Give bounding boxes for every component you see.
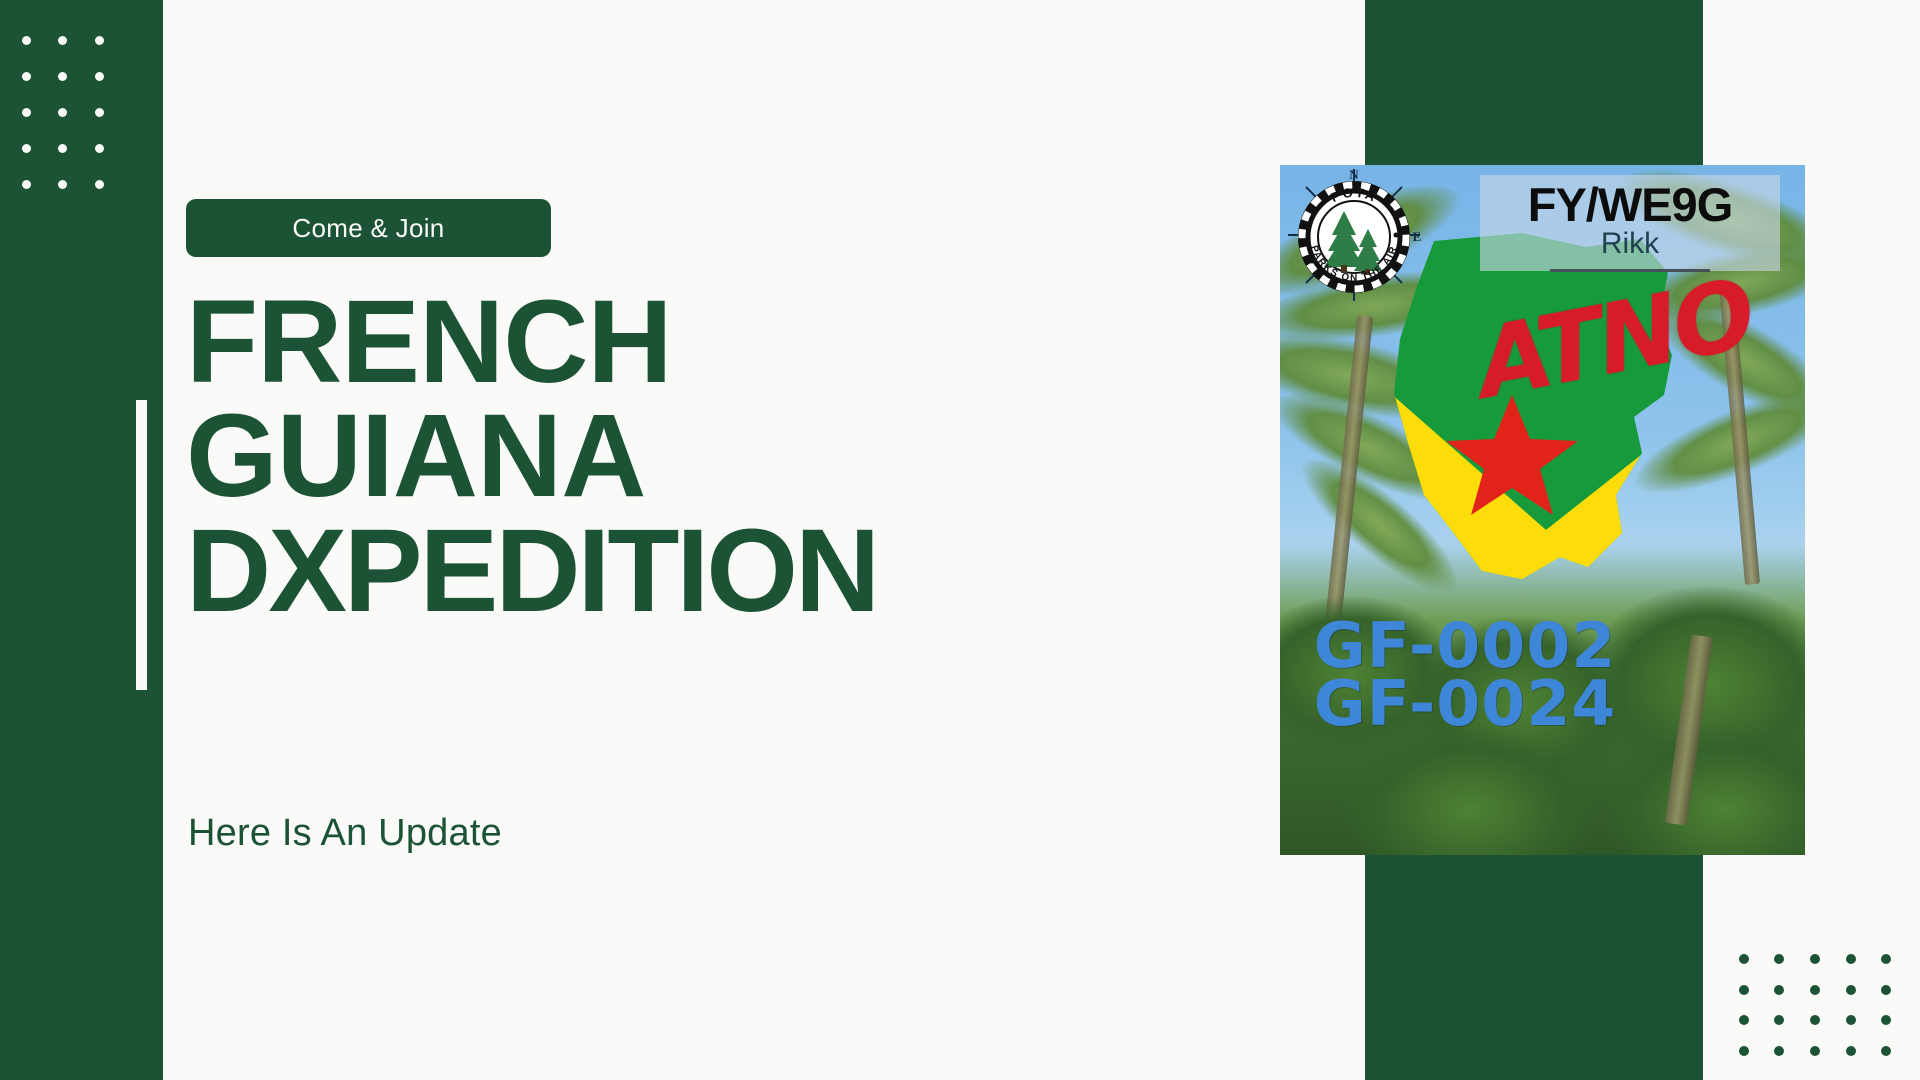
park-reference: GF-0002 bbox=[1314, 617, 1742, 675]
dot bbox=[1739, 985, 1749, 995]
dot bbox=[1739, 1046, 1749, 1056]
dot bbox=[22, 72, 31, 81]
dot bbox=[58, 36, 67, 45]
park-reference-list: GF-0002 GF-0024 bbox=[1314, 617, 1742, 732]
dot bbox=[22, 180, 31, 189]
dot bbox=[1846, 1015, 1856, 1025]
dot bbox=[1774, 1015, 1784, 1025]
subtitle: Here Is An Update bbox=[188, 812, 502, 855]
badge-label: Come & Join bbox=[292, 213, 444, 244]
dot bbox=[1774, 954, 1784, 964]
title-line-2: GUIANA bbox=[186, 399, 1196, 513]
dot bbox=[1881, 1046, 1891, 1056]
title-accent-bar bbox=[136, 400, 147, 690]
dot bbox=[95, 144, 104, 153]
pota-emblem-icon: POTA PARKS ON THE AIR bbox=[1294, 177, 1414, 297]
pota-logo: N E bbox=[1294, 177, 1412, 295]
dot bbox=[1810, 1015, 1820, 1025]
dot bbox=[1881, 954, 1891, 964]
dot bbox=[22, 144, 31, 153]
dot bbox=[22, 108, 31, 117]
dot bbox=[1881, 1015, 1891, 1025]
dot bbox=[1739, 1015, 1749, 1025]
right-dot-pattern bbox=[1726, 944, 1904, 1066]
dot bbox=[58, 72, 67, 81]
callsign-text: FY/WE9G bbox=[1480, 177, 1780, 232]
dot bbox=[95, 180, 104, 189]
dot bbox=[1739, 954, 1749, 964]
dot bbox=[95, 36, 104, 45]
park-reference: GF-0024 bbox=[1314, 675, 1742, 733]
dot bbox=[58, 108, 67, 117]
dot bbox=[1774, 985, 1784, 995]
title-line-1: FRENCH bbox=[186, 285, 1196, 399]
dot bbox=[95, 108, 104, 117]
page-title: FRENCH GUIANA DXPEDITION bbox=[186, 285, 1196, 628]
dot bbox=[1810, 985, 1820, 995]
dot bbox=[1881, 985, 1891, 995]
come-and-join-badge[interactable]: Come & Join bbox=[186, 199, 551, 257]
dot bbox=[1846, 985, 1856, 995]
dot bbox=[22, 36, 31, 45]
dot bbox=[58, 144, 67, 153]
operator-name: Rikk bbox=[1480, 227, 1780, 261]
left-dot-pattern bbox=[8, 22, 118, 202]
dot bbox=[1846, 954, 1856, 964]
qsl-card-image: N E bbox=[1280, 165, 1805, 855]
dot bbox=[1774, 1046, 1784, 1056]
dot bbox=[1810, 954, 1820, 964]
title-line-3: DXPEDITION bbox=[186, 514, 1196, 628]
dot bbox=[95, 72, 104, 81]
content-column: Come & Join FRENCH GUIANA DXPEDITION Her… bbox=[186, 0, 1186, 1080]
dot bbox=[1810, 1046, 1820, 1056]
dot bbox=[58, 180, 67, 189]
dot bbox=[1846, 1046, 1856, 1056]
